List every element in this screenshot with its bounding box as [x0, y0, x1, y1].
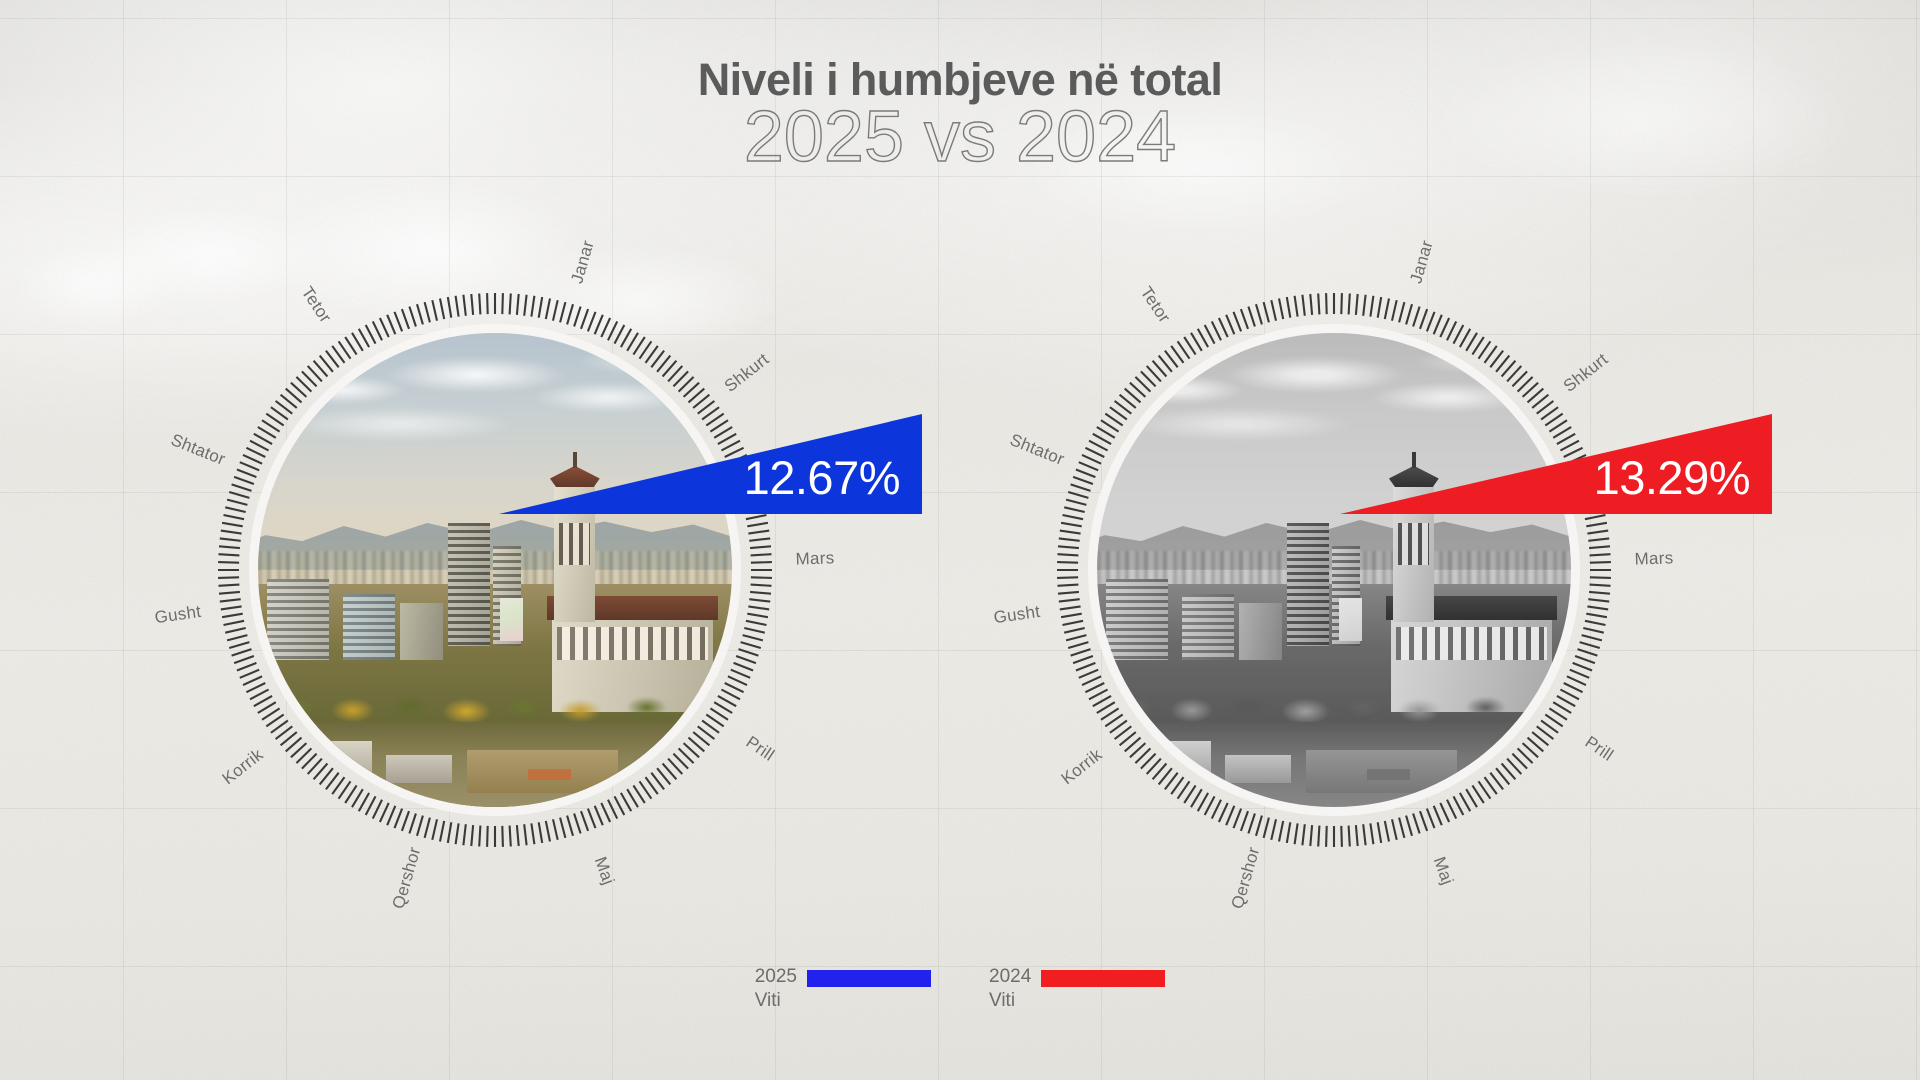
building-banner	[1339, 598, 1363, 641]
header: Niveli i humbjeve në total 2025 vs 2024	[0, 56, 1920, 174]
month-label-mars: Mars	[1634, 548, 1674, 569]
legend-item-2025[interactable]: 2025 Viti	[755, 965, 931, 1012]
cathedral-arcade	[1396, 627, 1548, 660]
photo-prishtina-grayscale	[1097, 333, 1571, 807]
legend-item-2024[interactable]: 2024 Viti	[989, 965, 1165, 1012]
cathedral-arcade	[557, 627, 709, 660]
legend-text-2025: 2025 Viti	[755, 965, 797, 1012]
foreground-building-1	[277, 741, 372, 779]
building-slab-1	[267, 579, 329, 660]
page-subtitle: 2025 vs 2024	[0, 101, 1920, 174]
building-slab-3	[400, 603, 443, 660]
panel-2025	[215, 290, 775, 850]
construction-marker	[1367, 769, 1410, 780]
building-slab-2	[343, 594, 395, 660]
legend-swatch-2024	[1041, 970, 1165, 987]
legend-year-2025: 2025	[755, 965, 797, 989]
building-slab-2	[1182, 594, 1234, 660]
legend-swatch-2025	[807, 970, 931, 987]
cathedral-tower-windows	[1398, 523, 1429, 566]
building-banner	[500, 598, 524, 641]
value-wedge-2025: 12.67%	[499, 414, 922, 514]
panel-2024	[1054, 290, 1614, 850]
photo-prishtina-color	[258, 333, 732, 807]
legend-label-2024: Viti	[989, 989, 1031, 1013]
legend-text-2024: 2024 Viti	[989, 965, 1031, 1012]
building-slab-1	[1106, 579, 1168, 660]
legend-label-2025: Viti	[755, 989, 797, 1013]
value-label-2024: 13.29%	[1594, 454, 1750, 501]
month-label-mars: Mars	[795, 548, 835, 569]
value-wedge-2024: 13.29%	[1340, 414, 1772, 514]
building-tower-a	[1287, 523, 1330, 646]
building-slab-3	[1239, 603, 1282, 660]
building-tower-a	[448, 523, 491, 646]
legend-year-2024: 2024	[989, 965, 1031, 989]
foreground-building-2	[1225, 755, 1291, 783]
value-label-2025: 12.67%	[744, 454, 900, 501]
foreground-building-2	[386, 755, 452, 783]
foreground-building-1	[1116, 741, 1211, 779]
infographic-canvas: Niveli i humbjeve në total 2025 vs 2024	[0, 0, 1920, 1080]
construction-marker	[528, 769, 571, 780]
cathedral-tower-windows	[559, 523, 590, 566]
legend: 2025 Viti 2024 Viti	[0, 965, 1920, 1012]
